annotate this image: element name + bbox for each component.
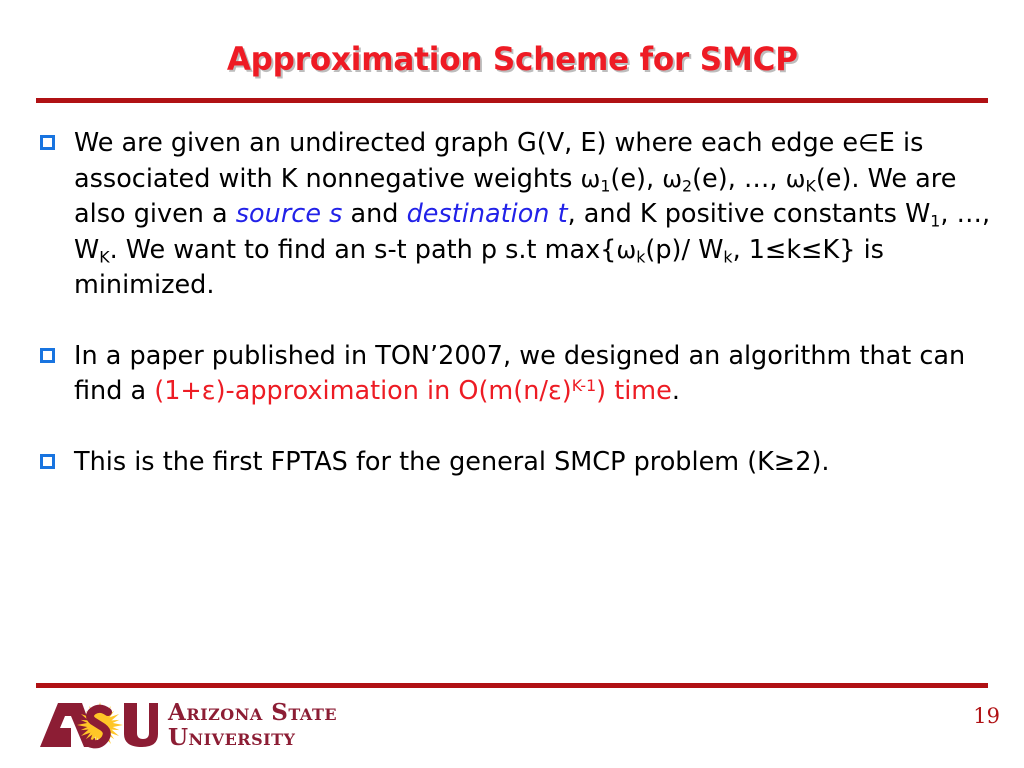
omega-symbol: ω	[662, 165, 682, 193]
bullet-1-seg-5: (e),	[610, 164, 662, 194]
bullet-1-seg-0: We are given an undirected graph G(V, E)…	[74, 128, 858, 158]
bullet-1-seg-13: and	[342, 199, 406, 229]
bullet-item-3: This is the first FPTAS for the general …	[36, 445, 996, 481]
bullet-1-seg-22: (p)/ W	[645, 235, 723, 265]
slide-body: We are given an undirected graph G(V, E)…	[36, 126, 996, 480]
asu-wordmark-line2: University	[168, 726, 337, 749]
asu-logo: Arizona State University	[38, 699, 337, 751]
omega-symbol: ω	[616, 236, 636, 264]
bullet-item-1: We are given an undirected graph G(V, E)…	[36, 126, 996, 304]
title-area: Approximation Scheme for SMCP	[0, 40, 1024, 78]
omega-symbol: ω	[580, 165, 600, 193]
subscript-Wk: k	[723, 247, 732, 266]
element-of-icon: ∈	[858, 129, 879, 157]
source-term: source s	[236, 199, 343, 229]
title-divider-rule	[36, 98, 988, 103]
approximation-formula-tail: ) time	[596, 376, 672, 406]
asu-wordmark-line1: Arizona State	[168, 701, 337, 724]
bullet-item-2: In a paper published in TON’2007, we des…	[36, 339, 996, 410]
hollow-square-bullet-icon	[40, 454, 55, 469]
omega-symbol: ω	[786, 165, 806, 193]
page-title: Approximation Scheme for SMCP	[227, 40, 798, 78]
page-number: 19	[973, 704, 1000, 728]
approximation-formula: (1+ε)-approximation in O(m(n/ε)	[154, 376, 571, 406]
bullet-2-seg-4: .	[672, 376, 680, 406]
subscript-1: 1	[600, 176, 610, 195]
subscript-WK: K	[99, 247, 109, 266]
asu-sunburst-icon	[38, 700, 160, 750]
hollow-square-bullet-icon	[40, 348, 55, 363]
subscript-K: K	[805, 176, 815, 195]
superscript-K-1: K-1	[572, 376, 596, 395]
subscript-W1: 1	[930, 211, 940, 230]
bullet-text-1: We are given an undirected graph G(V, E)…	[74, 126, 996, 304]
bullet-1-seg-8: (e), …,	[692, 164, 786, 194]
bullet-1-seg-15: , and K positive constants W	[568, 199, 931, 229]
hollow-square-bullet-icon	[40, 135, 55, 150]
slide: Approximation Scheme for SMCP We are giv…	[0, 0, 1024, 768]
bullet-text-3: This is the first FPTAS for the general …	[74, 445, 996, 481]
bullet-1-seg-19: . We want to find an s-t path p s.t max{	[110, 235, 617, 265]
footer-divider-rule	[36, 683, 988, 688]
bullet-text-2: In a paper published in TON’2007, we des…	[74, 339, 996, 410]
asu-wordmark: Arizona State University	[168, 701, 337, 749]
subscript-2: 2	[682, 176, 692, 195]
destination-term: destination t	[407, 199, 568, 229]
